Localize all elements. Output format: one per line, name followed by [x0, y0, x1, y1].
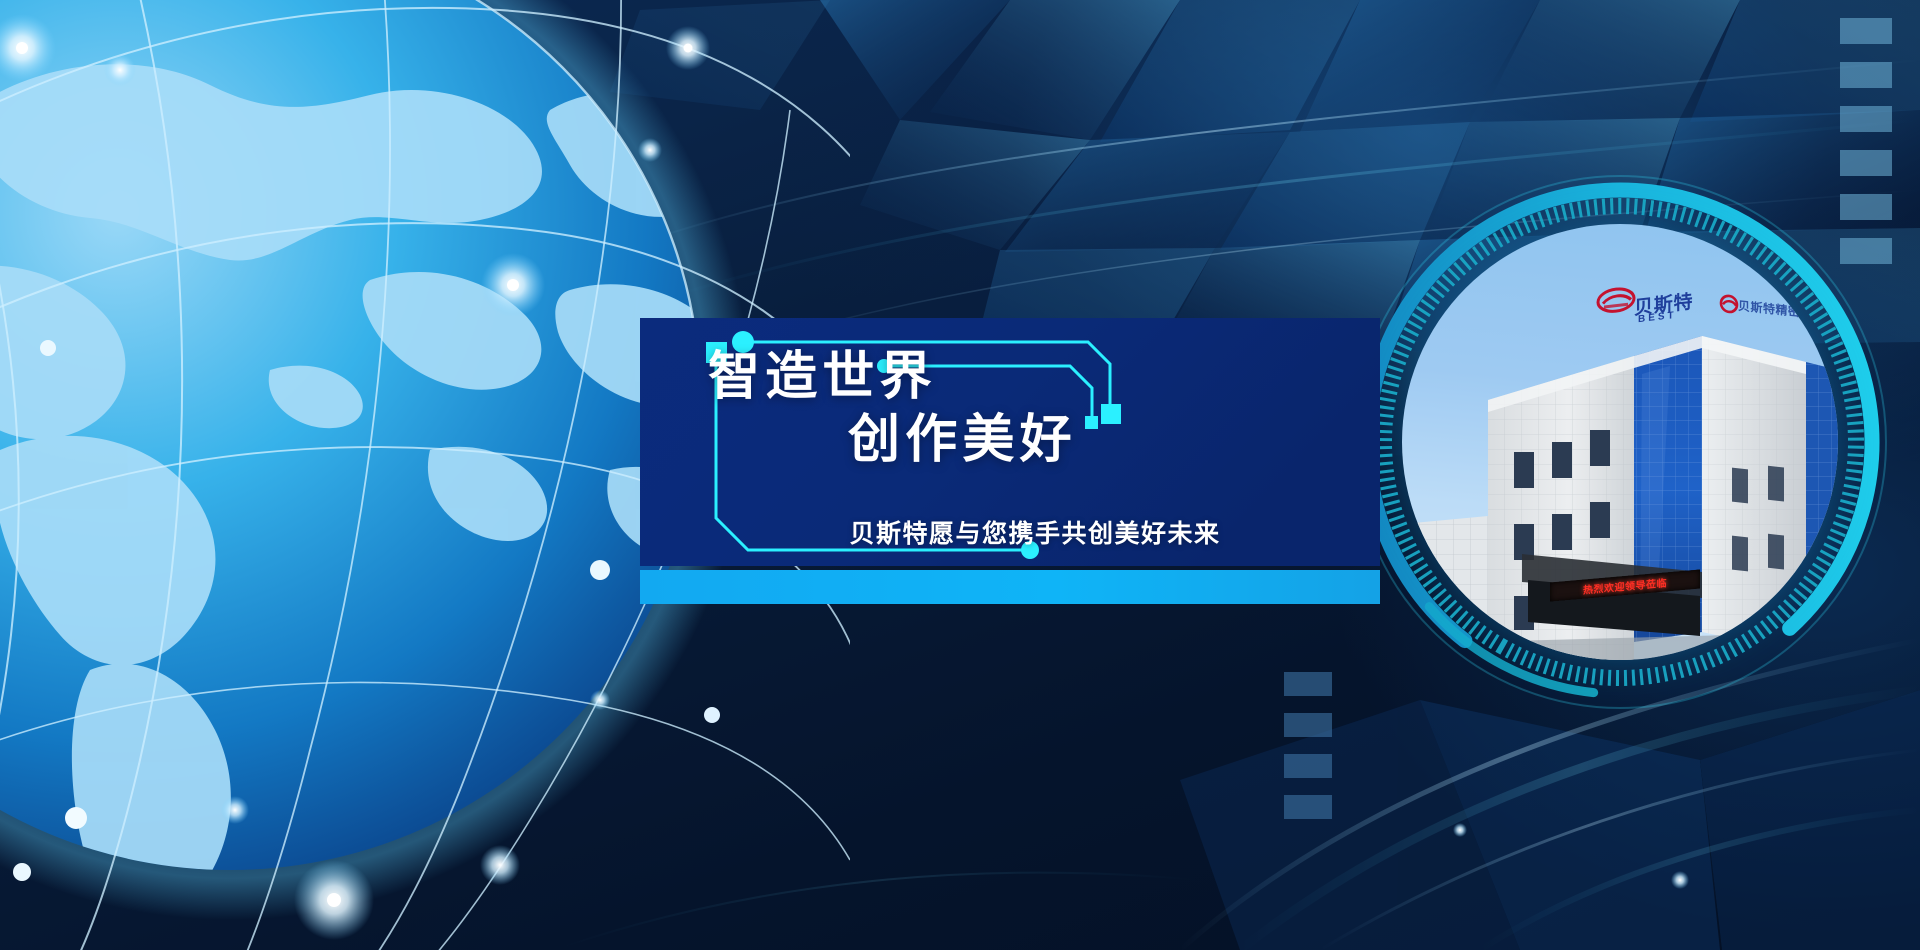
- banner-hero: 贝斯特 BEST 贝斯特精密 热烈欢迎领导莅临: [0, 0, 1920, 950]
- building-photo: 贝斯特 BEST 贝斯特精密 热烈欢迎领导莅临: [1402, 224, 1838, 660]
- edge-marker-block: [1840, 18, 1892, 44]
- edge-marker-block: [1284, 795, 1332, 819]
- building-photo-medallion: 贝斯特 BEST 贝斯特精密 热烈欢迎领导莅临: [1370, 192, 1870, 692]
- headline-line-1: 智造世界: [700, 346, 1340, 409]
- headline-panel: 智造世界 创作美好 贝斯特愿与您携手共创美好未来: [640, 318, 1380, 678]
- edge-marker-block: [1840, 150, 1892, 176]
- headline: 智造世界 创作美好: [700, 346, 1340, 473]
- edge-marker-stack-lower: [1284, 672, 1332, 836]
- edge-marker-block: [1284, 713, 1332, 737]
- headline-line-2: 创作美好: [700, 409, 1340, 472]
- edge-marker-block: [1840, 62, 1892, 88]
- subtitle: 贝斯特愿与您携手共创美好未来: [700, 514, 1340, 550]
- edge-marker-block: [1284, 754, 1332, 778]
- edge-marker-block: [1840, 106, 1892, 132]
